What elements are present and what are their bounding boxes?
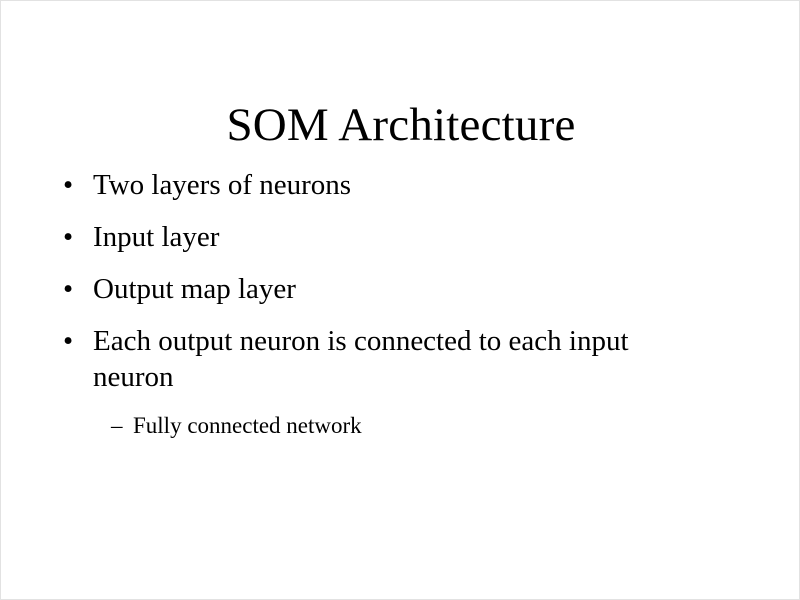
list-item[interactable]: • Output map layer [63,271,723,307]
list-item-label: Input layer [93,219,723,255]
bullet-point-icon: • [63,323,93,359]
list-item-label: Two layers of neurons [93,167,723,203]
list-item[interactable]: • Input layer [63,219,723,255]
list-item[interactable]: • Each output neuron is connected to eac… [63,323,723,395]
bullet-point-icon: • [63,271,93,307]
list-item-label: Output map layer [93,271,723,307]
presentation-slide: SOM Architecture • Two layers of neurons… [0,0,800,600]
list-item[interactable]: • Two layers of neurons [63,167,723,203]
bullet-point-icon: • [63,219,93,255]
bullet-point-icon: • [63,167,93,203]
sub-bullet-list: – Fully connected network [111,411,723,441]
sub-list-item[interactable]: – Fully connected network [111,411,723,441]
page-title: SOM Architecture [1,98,800,152]
dash-bullet-icon: – [111,411,133,441]
sub-list-item-label: Fully connected network [133,411,723,441]
list-item-label: Each output neuron is connected to each … [93,323,693,395]
bullet-list: • Two layers of neurons • Input layer • … [63,167,723,441]
